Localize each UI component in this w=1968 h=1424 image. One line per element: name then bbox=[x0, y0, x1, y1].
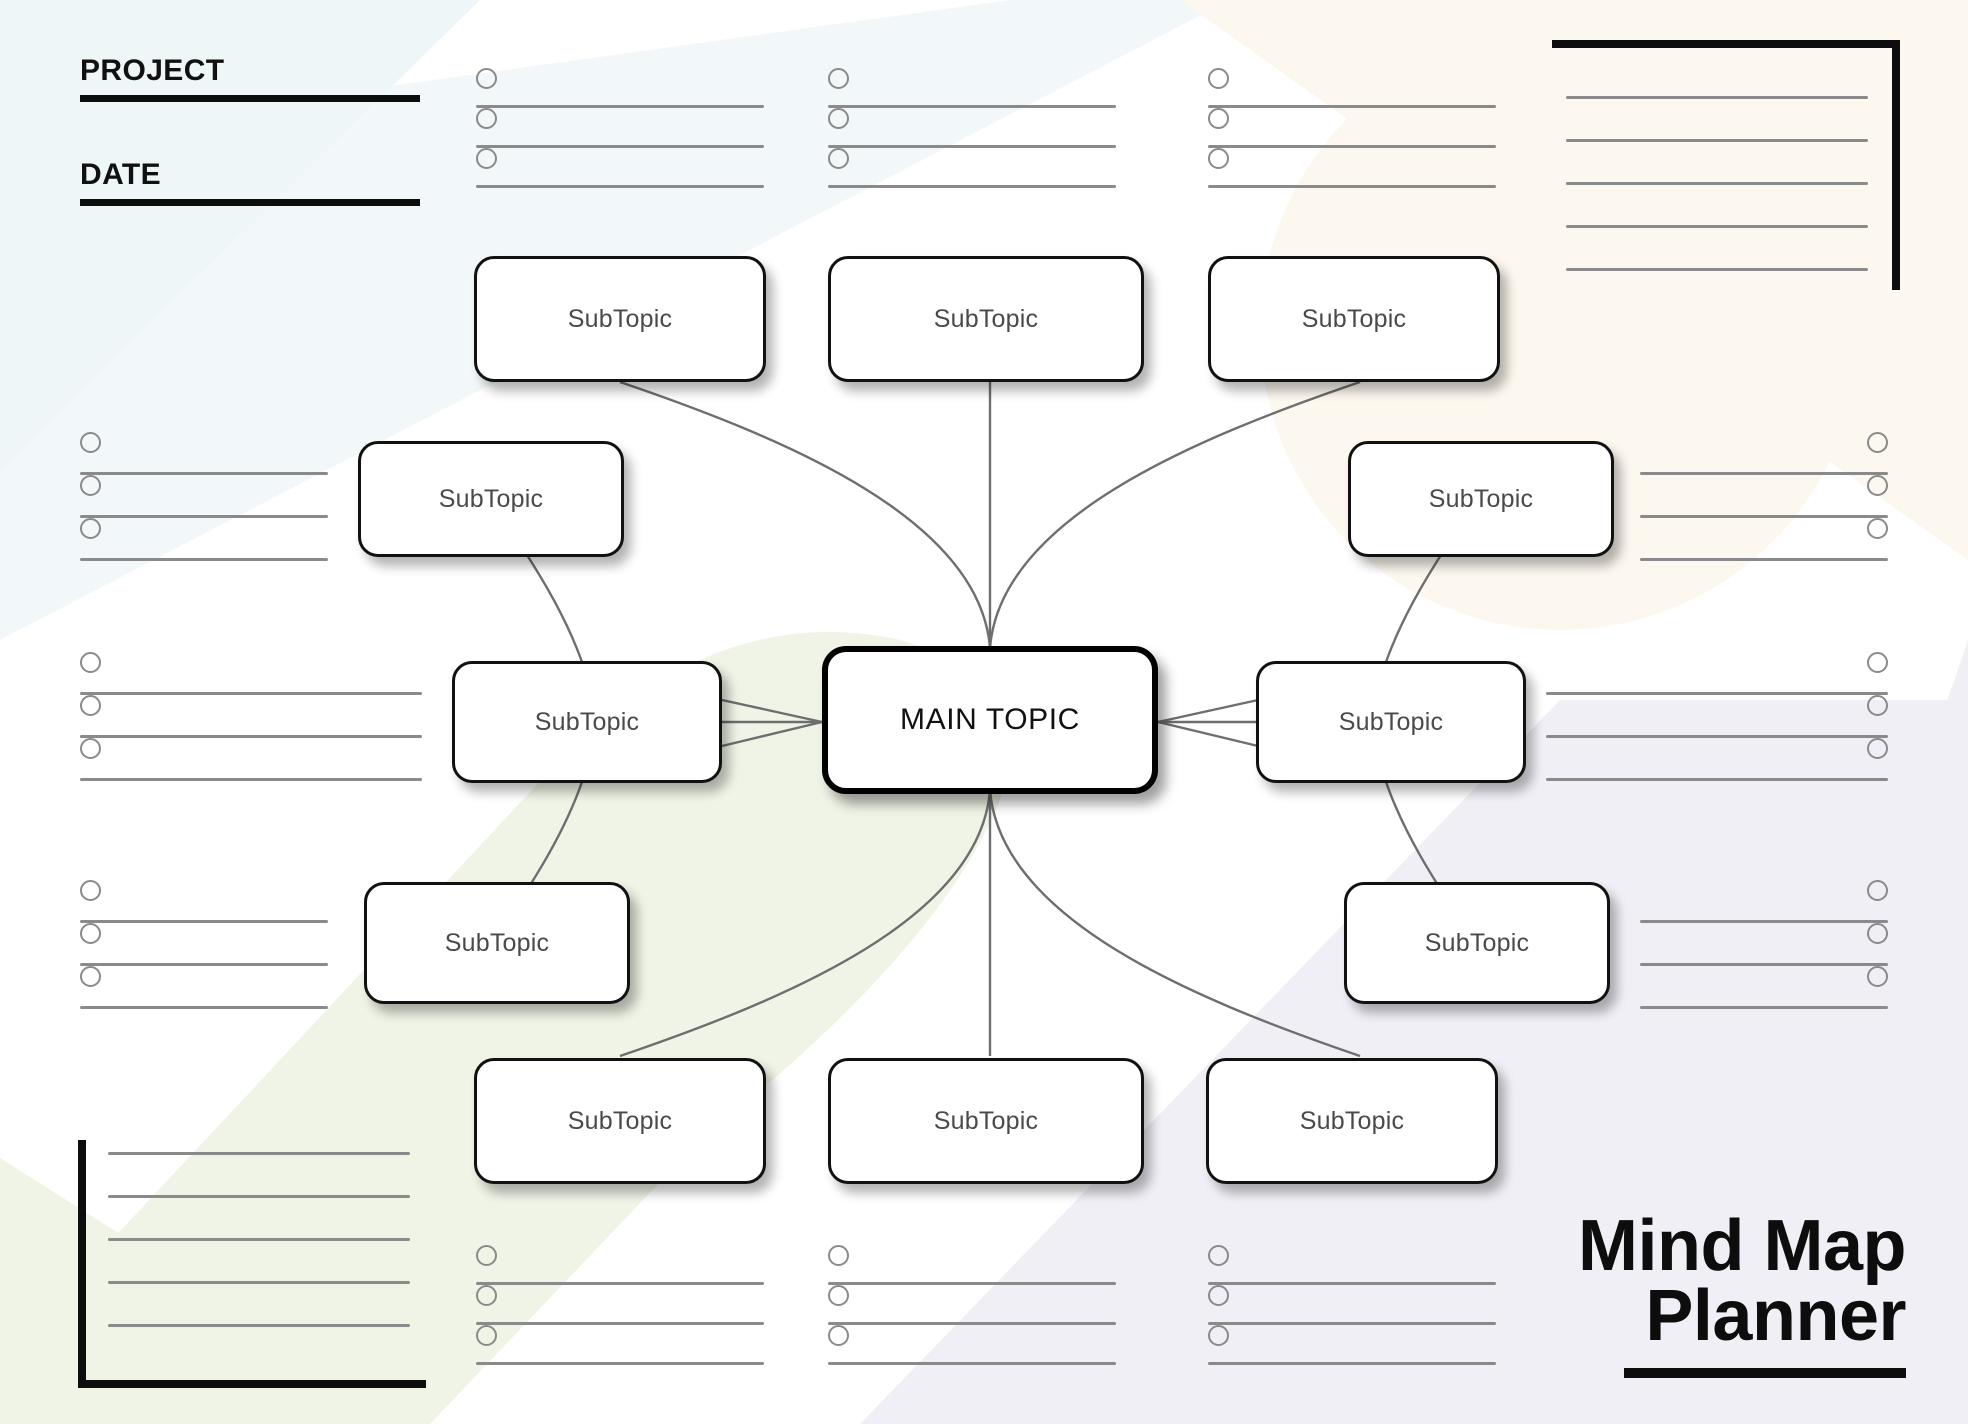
circle-checkbox-icon[interactable] bbox=[1867, 923, 1888, 944]
check-row[interactable] bbox=[476, 68, 764, 108]
circle-checkbox-icon[interactable] bbox=[1208, 1245, 1229, 1266]
check-row[interactable] bbox=[1640, 966, 1888, 1009]
project-rule bbox=[80, 95, 420, 102]
check-row[interactable] bbox=[476, 1245, 764, 1285]
check-row[interactable] bbox=[80, 518, 328, 561]
write-line[interactable] bbox=[80, 1006, 328, 1009]
note-line[interactable] bbox=[1566, 182, 1868, 185]
check-row[interactable] bbox=[1208, 68, 1496, 108]
circle-checkbox-icon[interactable] bbox=[1867, 475, 1888, 496]
checklist-bottom-col-3[interactable] bbox=[1208, 1245, 1496, 1365]
check-row[interactable] bbox=[1208, 1245, 1496, 1285]
check-row[interactable] bbox=[828, 68, 1116, 108]
checklist-right-group-2[interactable] bbox=[1546, 652, 1888, 781]
check-row[interactable] bbox=[80, 652, 422, 695]
write-line[interactable] bbox=[1640, 558, 1888, 561]
note-line[interactable] bbox=[1566, 225, 1868, 228]
check-row[interactable] bbox=[476, 148, 764, 188]
circle-checkbox-icon[interactable] bbox=[828, 1245, 849, 1266]
circle-checkbox-icon[interactable] bbox=[80, 880, 101, 901]
circle-checkbox-icon[interactable] bbox=[828, 68, 849, 89]
note-line[interactable] bbox=[108, 1195, 410, 1198]
check-row[interactable] bbox=[828, 1325, 1116, 1365]
note-line[interactable] bbox=[108, 1324, 410, 1327]
note-line[interactable] bbox=[1566, 96, 1868, 99]
page-title-line-2: Planner bbox=[1578, 1281, 1906, 1352]
note-bracket-top-right[interactable] bbox=[1552, 40, 1900, 290]
circle-checkbox-icon[interactable] bbox=[828, 1285, 849, 1306]
checklist-left-group-3[interactable] bbox=[80, 880, 328, 1009]
checklist-left-group-2[interactable] bbox=[80, 652, 422, 781]
circle-checkbox-icon[interactable] bbox=[1867, 880, 1888, 901]
note-line[interactable] bbox=[108, 1281, 410, 1284]
check-row[interactable] bbox=[1208, 108, 1496, 148]
circle-checkbox-icon[interactable] bbox=[1208, 68, 1229, 89]
circle-checkbox-icon[interactable] bbox=[1867, 652, 1888, 673]
page-title-line-1: Mind Map bbox=[1578, 1211, 1906, 1282]
circle-checkbox-icon[interactable] bbox=[1867, 432, 1888, 453]
write-line[interactable] bbox=[80, 778, 422, 781]
check-row[interactable] bbox=[1640, 475, 1888, 518]
circle-checkbox-icon[interactable] bbox=[828, 108, 849, 129]
circle-checkbox-icon[interactable] bbox=[80, 518, 101, 539]
circle-checkbox-icon[interactable] bbox=[828, 1325, 849, 1346]
write-line[interactable] bbox=[1546, 778, 1888, 781]
check-row[interactable] bbox=[80, 966, 328, 1009]
bracket-bottom-bar bbox=[78, 1380, 426, 1388]
check-row[interactable] bbox=[476, 1285, 764, 1325]
bracket-top-bar bbox=[1552, 40, 1900, 48]
write-line[interactable] bbox=[1208, 185, 1496, 188]
write-line[interactable] bbox=[1208, 1362, 1496, 1365]
check-row[interactable] bbox=[476, 1325, 764, 1365]
project-field[interactable]: PROJECT bbox=[80, 56, 420, 102]
date-rule bbox=[80, 199, 420, 206]
check-row[interactable] bbox=[1546, 695, 1888, 738]
circle-checkbox-icon[interactable] bbox=[1867, 518, 1888, 539]
page-title-rule bbox=[1624, 1368, 1906, 1378]
node-subtopic-right-middle[interactable]: SubTopic bbox=[1256, 661, 1526, 783]
write-line[interactable] bbox=[476, 1362, 764, 1365]
circle-checkbox-icon[interactable] bbox=[476, 148, 497, 169]
project-label: PROJECT bbox=[80, 56, 420, 86]
check-row[interactable] bbox=[80, 923, 328, 966]
node-subtopic-left-lower[interactable]: SubTopic bbox=[364, 882, 630, 1004]
note-line[interactable] bbox=[108, 1152, 410, 1155]
circle-checkbox-icon[interactable] bbox=[476, 108, 497, 129]
check-row[interactable] bbox=[1640, 518, 1888, 561]
circle-checkbox-icon[interactable] bbox=[476, 1245, 497, 1266]
write-line[interactable] bbox=[1640, 1006, 1888, 1009]
circle-checkbox-icon[interactable] bbox=[476, 1325, 497, 1346]
checklist-right-group-3[interactable] bbox=[1640, 880, 1888, 1009]
write-line[interactable] bbox=[80, 558, 328, 561]
check-row[interactable] bbox=[828, 148, 1116, 188]
check-row[interactable] bbox=[828, 1285, 1116, 1325]
bracket-right-bar bbox=[1892, 40, 1900, 290]
node-subtopic-right-upper[interactable]: SubTopic bbox=[1348, 441, 1614, 557]
write-line[interactable] bbox=[828, 1362, 1116, 1365]
node-subtopic-right-lower[interactable]: SubTopic bbox=[1344, 882, 1610, 1004]
circle-checkbox-icon[interactable] bbox=[80, 966, 101, 987]
circle-checkbox-icon[interactable] bbox=[1867, 738, 1888, 759]
check-row[interactable] bbox=[1546, 738, 1888, 781]
circle-checkbox-icon[interactable] bbox=[1208, 1285, 1229, 1306]
node-subtopic-left-upper[interactable]: SubTopic bbox=[358, 441, 624, 557]
circle-checkbox-icon[interactable] bbox=[1867, 695, 1888, 716]
check-row[interactable] bbox=[828, 108, 1116, 148]
circle-checkbox-icon[interactable] bbox=[828, 148, 849, 169]
checklist-bottom-col-2[interactable] bbox=[828, 1245, 1116, 1365]
check-row[interactable] bbox=[80, 475, 328, 518]
bracket-left-bar bbox=[78, 1140, 86, 1388]
node-subtopic-top-right[interactable]: SubTopic bbox=[1208, 256, 1500, 382]
date-field[interactable]: DATE bbox=[80, 160, 420, 206]
circle-checkbox-icon[interactable] bbox=[1208, 108, 1229, 129]
checklist-top-col-2[interactable] bbox=[828, 68, 1116, 188]
node-subtopic-top-left[interactable]: SubTopic bbox=[474, 256, 766, 382]
check-row[interactable] bbox=[1640, 923, 1888, 966]
node-subtopic-top-center[interactable]: SubTopic bbox=[828, 256, 1144, 382]
circle-checkbox-icon[interactable] bbox=[476, 1285, 497, 1306]
check-row[interactable] bbox=[1208, 1285, 1496, 1325]
check-row[interactable] bbox=[80, 695, 422, 738]
checklist-right-group-1[interactable] bbox=[1640, 432, 1888, 561]
check-row[interactable] bbox=[476, 108, 764, 148]
circle-checkbox-icon[interactable] bbox=[1208, 1325, 1229, 1346]
checklist-left-group-1[interactable] bbox=[80, 432, 328, 561]
circle-checkbox-icon[interactable] bbox=[80, 652, 101, 673]
checklist-bottom-col-1[interactable] bbox=[476, 1245, 764, 1365]
date-label: DATE bbox=[80, 160, 420, 190]
note-line[interactable] bbox=[108, 1238, 410, 1241]
page-title: Mind Map Planner bbox=[1578, 1211, 1906, 1378]
check-row[interactable] bbox=[80, 738, 422, 781]
node-subtopic-bottom-center[interactable]: SubTopic bbox=[828, 1058, 1144, 1184]
note-line[interactable] bbox=[1566, 139, 1868, 142]
node-subtopic-left-middle[interactable]: SubTopic bbox=[452, 661, 722, 783]
note-line[interactable] bbox=[1566, 268, 1868, 271]
check-row[interactable] bbox=[1546, 652, 1888, 695]
write-line[interactable] bbox=[828, 185, 1116, 188]
circle-checkbox-icon[interactable] bbox=[80, 695, 101, 716]
node-main-topic[interactable]: MAIN TOPIC bbox=[822, 646, 1158, 794]
circle-checkbox-icon[interactable] bbox=[80, 923, 101, 944]
check-row[interactable] bbox=[828, 1245, 1116, 1285]
check-row[interactable] bbox=[1640, 880, 1888, 923]
mind-map-planner-page: PROJECT DATE bbox=[0, 0, 1968, 1424]
check-row[interactable] bbox=[1640, 432, 1888, 475]
write-line[interactable] bbox=[476, 185, 764, 188]
circle-checkbox-icon[interactable] bbox=[476, 68, 497, 89]
node-subtopic-bottom-right[interactable]: SubTopic bbox=[1206, 1058, 1498, 1184]
checklist-top-col-3[interactable] bbox=[1208, 68, 1496, 188]
checklist-top-col-1[interactable] bbox=[476, 68, 764, 188]
node-subtopic-bottom-left[interactable]: SubTopic bbox=[474, 1058, 766, 1184]
circle-checkbox-icon[interactable] bbox=[80, 475, 101, 496]
check-row[interactable] bbox=[1208, 1325, 1496, 1365]
circle-checkbox-icon[interactable] bbox=[80, 738, 101, 759]
check-row[interactable] bbox=[1208, 148, 1496, 188]
circle-checkbox-icon[interactable] bbox=[1208, 148, 1229, 169]
check-row[interactable] bbox=[80, 432, 328, 475]
check-row[interactable] bbox=[80, 880, 328, 923]
circle-checkbox-icon[interactable] bbox=[80, 432, 101, 453]
note-bracket-bottom-left[interactable] bbox=[78, 1140, 426, 1388]
circle-checkbox-icon[interactable] bbox=[1867, 966, 1888, 987]
